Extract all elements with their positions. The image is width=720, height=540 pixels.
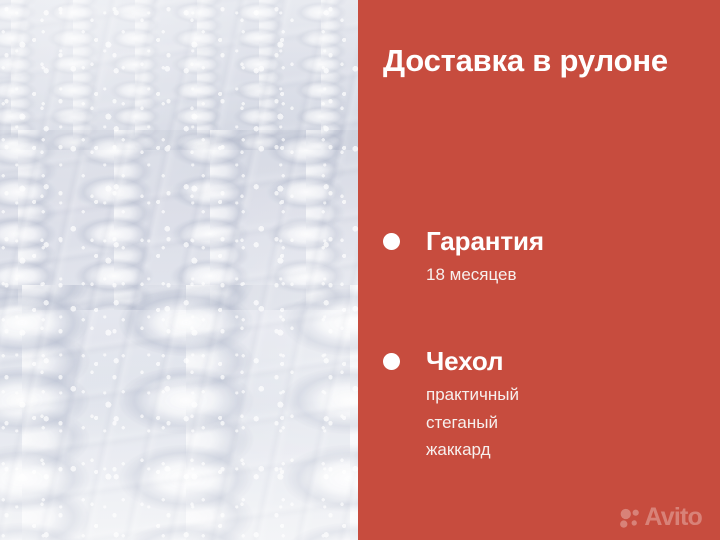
feature-cover-sub: практичный стеганый жаккард (426, 381, 703, 464)
panel-headline: Доставка в рулоне (383, 40, 683, 81)
avito-dots-icon (619, 507, 641, 529)
feature-guarantee-head: Гарантия (383, 228, 703, 254)
mattress-photo (0, 0, 358, 540)
feature-cover-title: Чехол (426, 348, 503, 374)
feature-cover-sub-line-1: практичный (426, 381, 703, 409)
feature-guarantee-title: Гарантия (426, 228, 544, 254)
avito-wordmark: Avito (644, 505, 702, 530)
info-panel: Доставка в рулоне Гарантия 18 месяцев Че… (358, 0, 720, 540)
feature-cover-sub-line-3: жаккард (426, 436, 703, 464)
photo-depth-haze (0, 0, 358, 540)
listing-image-card: Доставка в рулоне Гарантия 18 месяцев Че… (0, 0, 720, 540)
avito-watermark: Avito (619, 505, 702, 530)
feature-cover: Чехол практичный стеганый жаккард (383, 348, 703, 464)
feature-guarantee: Гарантия 18 месяцев (383, 228, 703, 289)
bullet-dot-icon (383, 353, 400, 370)
feature-guarantee-sub: 18 месяцев (426, 261, 703, 289)
feature-guarantee-sub-line-1: 18 месяцев (426, 261, 703, 289)
feature-cover-sub-line-2: стеганый (426, 409, 703, 437)
bullet-dot-icon (383, 233, 400, 250)
feature-cover-head: Чехол (383, 348, 703, 374)
